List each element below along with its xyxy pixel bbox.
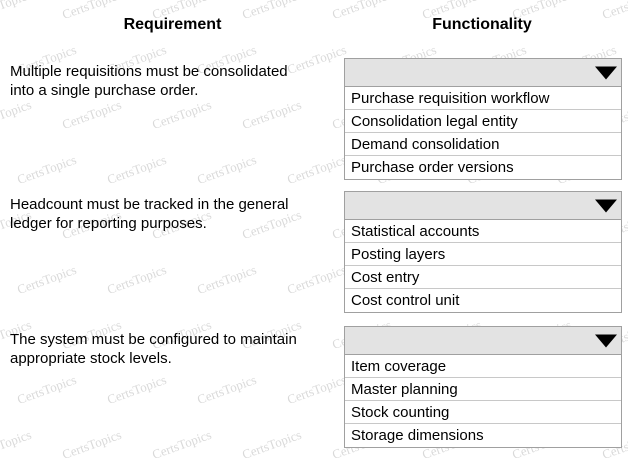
column-headers: Requirement Functionality (0, 16, 628, 40)
chevron-down-icon[interactable] (595, 199, 617, 212)
dropdown-3-option-3[interactable]: Storage dimensions (345, 424, 621, 447)
dropdown-3-selected[interactable] (344, 326, 622, 355)
dropdown-2-option-0[interactable]: Statistical accounts (345, 220, 621, 243)
requirement-line-3a: The system must be configured to maintai… (10, 330, 340, 349)
dropdown-3-option-0[interactable]: Item coverage (345, 355, 621, 378)
chevron-down-icon[interactable] (595, 66, 617, 79)
chevron-down-icon[interactable] (595, 334, 617, 347)
requirement-text-2: Headcount must be tracked in the general… (10, 195, 340, 233)
requirement-line-2a: Headcount must be tracked in the general (10, 195, 340, 214)
requirement-text-1: Multiple requisitions must be consolidat… (10, 62, 340, 100)
requirement-line-2b: ledger for reporting purposes. (10, 214, 340, 233)
requirement-line-3b: appropriate stock levels. (10, 349, 340, 368)
dropdown-1-option-1[interactable]: Consolidation legal entity (345, 110, 621, 133)
requirement-line-1a: Multiple requisitions must be consolidat… (10, 62, 340, 81)
dropdown-3-options[interactable]: Item coverage Master planning Stock coun… (344, 355, 622, 448)
header-functionality: Functionality (340, 16, 624, 34)
dropdown-1-option-0[interactable]: Purchase requisition workflow (345, 87, 621, 110)
dropdown-1-option-2[interactable]: Demand consolidation (345, 133, 621, 156)
question-content: Requirement Functionality Multiple requi… (0, 0, 628, 465)
requirement-line-1b: into a single purchase order. (10, 81, 340, 100)
dropdown-1-option-3[interactable]: Purchase order versions (345, 156, 621, 179)
dropdown-3-option-1[interactable]: Master planning (345, 378, 621, 401)
dropdown-1-selected[interactable] (344, 58, 622, 87)
dropdown-2-option-3[interactable]: Cost control unit (345, 289, 621, 312)
dropdown-3-option-2[interactable]: Stock counting (345, 401, 621, 424)
dropdown-1[interactable]: Purchase requisition workflow Consolidat… (344, 58, 622, 180)
header-requirement: Requirement (10, 16, 335, 34)
dropdown-3[interactable]: Item coverage Master planning Stock coun… (344, 326, 622, 448)
dropdown-1-options[interactable]: Purchase requisition workflow Consolidat… (344, 87, 622, 180)
dropdown-2-options[interactable]: Statistical accounts Posting layers Cost… (344, 220, 622, 313)
dropdown-2-option-2[interactable]: Cost entry (345, 266, 621, 289)
dropdown-2-option-1[interactable]: Posting layers (345, 243, 621, 266)
requirement-text-3: The system must be configured to maintai… (10, 330, 340, 368)
dropdown-2-selected[interactable] (344, 191, 622, 220)
dropdown-2[interactable]: Statistical accounts Posting layers Cost… (344, 191, 622, 313)
